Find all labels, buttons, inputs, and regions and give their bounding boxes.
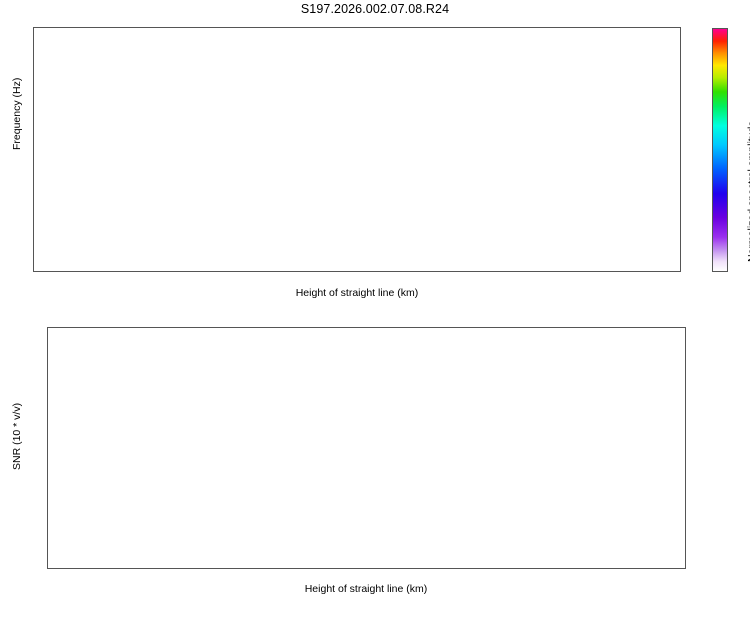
figure-root: S197.2026.002.07.08.R24 Height of straig… xyxy=(0,0,750,600)
spectrogram-tick-marks xyxy=(13,17,713,317)
snr-tick-marks xyxy=(27,317,727,617)
snr-x-axis-title: Height of straight line (km) xyxy=(305,583,428,595)
colorbar-tick-marks xyxy=(700,20,740,280)
spectrogram-x-axis-title: Height of straight line (km) xyxy=(296,287,419,299)
page-title: S197.2026.002.07.08.R24 xyxy=(0,2,750,16)
spectrogram-y-axis-title: Frequency (Hz) xyxy=(11,78,23,150)
colorbar-title: Normalized spectral amplitude xyxy=(746,121,750,262)
snr-y-axis-title: SNR (10 * v/v) xyxy=(11,403,23,470)
